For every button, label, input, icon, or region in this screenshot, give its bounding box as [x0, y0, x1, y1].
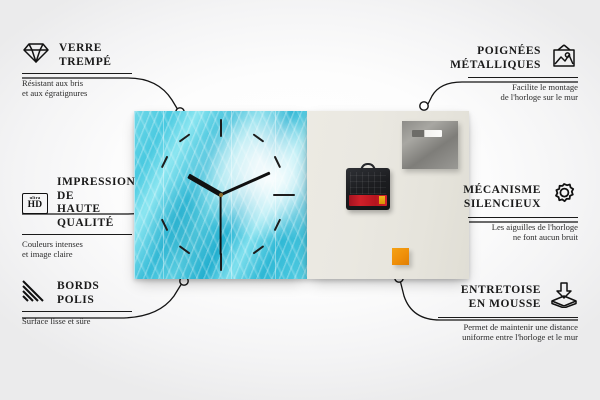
feature-rule — [468, 77, 578, 78]
connector-dot-poignees — [420, 102, 428, 110]
feature-subtitle: Couleurs intenses et image claire — [22, 239, 132, 260]
clock-mechanism — [346, 168, 390, 210]
feature-subtitle: Surface lisse et sûre — [22, 316, 132, 327]
hour-hand — [187, 174, 222, 197]
feature-title: POIGNÉES MÉTALLIQUES — [450, 45, 541, 72]
gear-icon — [550, 182, 578, 213]
feature-rule — [22, 73, 132, 74]
feature-title: ENTRETOISE EN MOUSSE — [461, 284, 541, 311]
foam-spacer-arrow-icon — [550, 282, 578, 313]
polished-edge-icon — [22, 280, 48, 307]
ultra-hd-badge-icon: ultra HD — [22, 193, 48, 214]
clock-face — [134, 111, 307, 279]
feature-mecanisme-silencieux: MÉCANISME SILENCIEUX Les aiguilles de l'… — [468, 182, 578, 243]
diamond-icon — [22, 42, 50, 69]
feature-subtitle: Les aiguilles de l'horloge ne font aucun… — [468, 222, 578, 243]
feature-title: MÉCANISME SILENCIEUX — [463, 184, 541, 211]
feature-subtitle: Permet de maintenir une distance uniform… — [438, 322, 578, 343]
feature-rule — [438, 317, 578, 318]
second-hand — [220, 195, 222, 255]
metal-hanger — [402, 121, 458, 169]
feature-title: IMPRESSION DE HAUTE QUALITÉ — [57, 176, 135, 230]
minute-hand — [220, 171, 271, 196]
feature-rule — [468, 217, 578, 218]
hd-badge-hd-label: HD — [28, 201, 43, 211]
feature-bords-polis: BORDS POLIS Surface lisse et sûre — [22, 280, 132, 326]
feature-impression-hd: ultra HD IMPRESSION DE HAUTE QUALITÉ Cou… — [22, 176, 132, 260]
feature-poignees-metalliques: POIGNÉES MÉTALLIQUES Facilite le montage… — [468, 44, 578, 103]
picture-frame-hanger-icon — [550, 44, 578, 73]
clock-center-pin — [219, 193, 223, 197]
infographic-stage: VERRE TREMPÉ Résistant aux bris et aux é… — [0, 0, 600, 400]
feature-verre-trempe: VERRE TREMPÉ Résistant aux bris et aux é… — [22, 42, 132, 99]
feature-rule — [22, 311, 132, 312]
feature-subtitle: Résistant aux bris et aux égratignures — [22, 78, 132, 99]
feature-rule — [22, 234, 132, 235]
feature-subtitle: Facilite le montage de l'horloge sur le … — [468, 82, 578, 103]
feature-title: BORDS POLIS — [57, 280, 99, 307]
clock-back-panel — [307, 111, 469, 279]
feature-title: VERRE TREMPÉ — [59, 42, 112, 69]
battery — [349, 195, 387, 206]
foam-spacer — [392, 248, 409, 265]
feature-entretoise-mousse: ENTRETOISE EN MOUSSE Permet de maintenir… — [438, 282, 578, 343]
